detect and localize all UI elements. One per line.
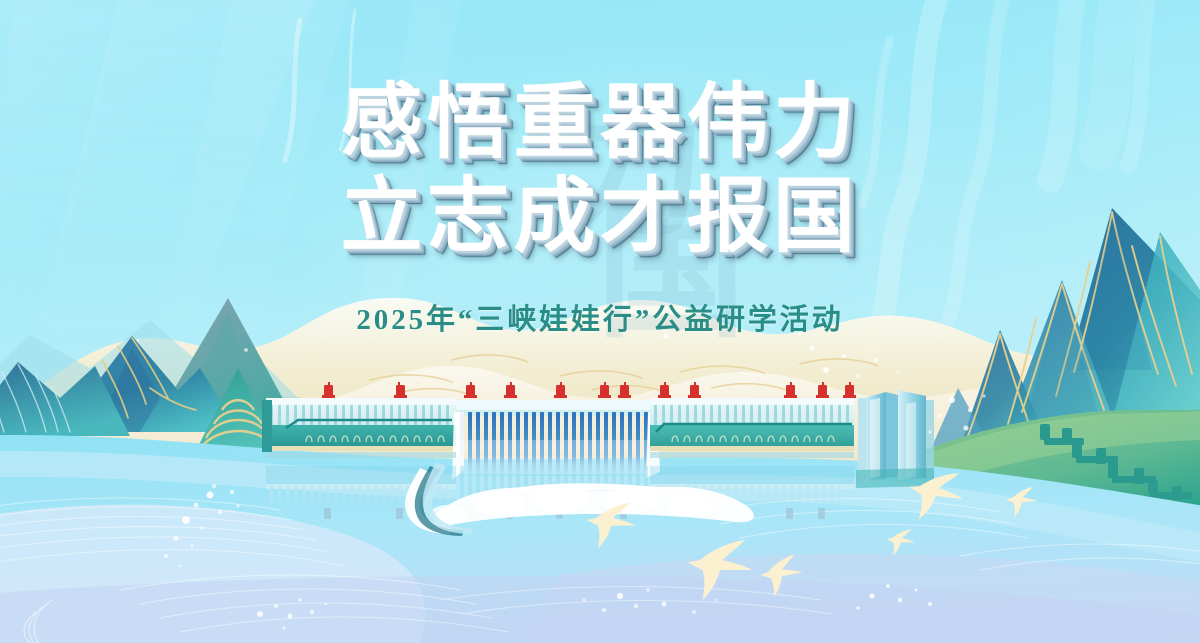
scene-illustration [0,0,1200,643]
dam-right-section [650,398,854,451]
ship-lift-towers [856,390,934,488]
poster-canvas: 力 国 感悟重器伟力 立志成才报国 2025年“三峡娃娃行”公益研学活动 [0,0,1200,643]
dam-left-section [262,398,456,452]
title-glow [200,30,1000,330]
